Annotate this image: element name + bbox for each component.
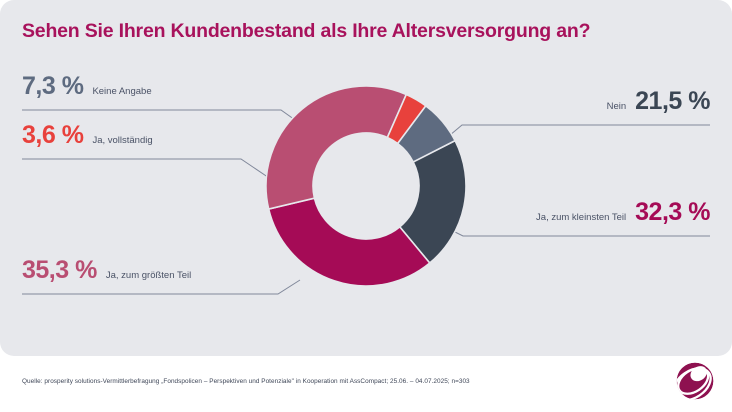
callout-ja-groesster: 35,3 % Ja, zum größten Teil	[22, 256, 191, 285]
source-note: Quelle: prosperity solutions-Vermittlerb…	[22, 378, 470, 385]
value-keine-angabe: 7,3 %	[22, 72, 83, 101]
value-nein: 21,5 %	[635, 87, 710, 116]
callout-ja-kleinster: Ja, zum kleinsten Teil 32,3 %	[536, 198, 710, 227]
donut-chart	[266, 86, 466, 331]
value-ja-kleinster: 32,3 %	[635, 198, 710, 227]
value-ja-vollstaendig: 3,6 %	[22, 121, 83, 150]
page-title: Sehen Sie Ihren Kundenbestand als Ihre A…	[22, 20, 590, 43]
donut-hole	[313, 133, 419, 239]
callout-keine-angabe: 7,3 % Keine Angabe	[22, 72, 152, 101]
category-ja-groesster: Ja, zum größten Teil	[106, 270, 191, 281]
value-ja-groesster: 35,3 %	[22, 256, 97, 285]
donut-svg	[266, 86, 466, 286]
category-ja-kleinster: Ja, zum kleinsten Teil	[536, 212, 626, 223]
chart-panel: Sehen Sie Ihren Kundenbestand als Ihre A…	[0, 0, 732, 356]
category-nein: Nein	[607, 101, 627, 112]
callout-nein: Nein 21,5 %	[607, 87, 710, 116]
prosperity-solutions-sphere-logo	[672, 358, 718, 404]
category-keine-angabe: Keine Angabe	[92, 86, 151, 97]
category-ja-vollstaendig: Ja, vollständig	[92, 135, 152, 146]
callout-ja-vollstaendig: 3,6 % Ja, vollständig	[22, 121, 153, 150]
